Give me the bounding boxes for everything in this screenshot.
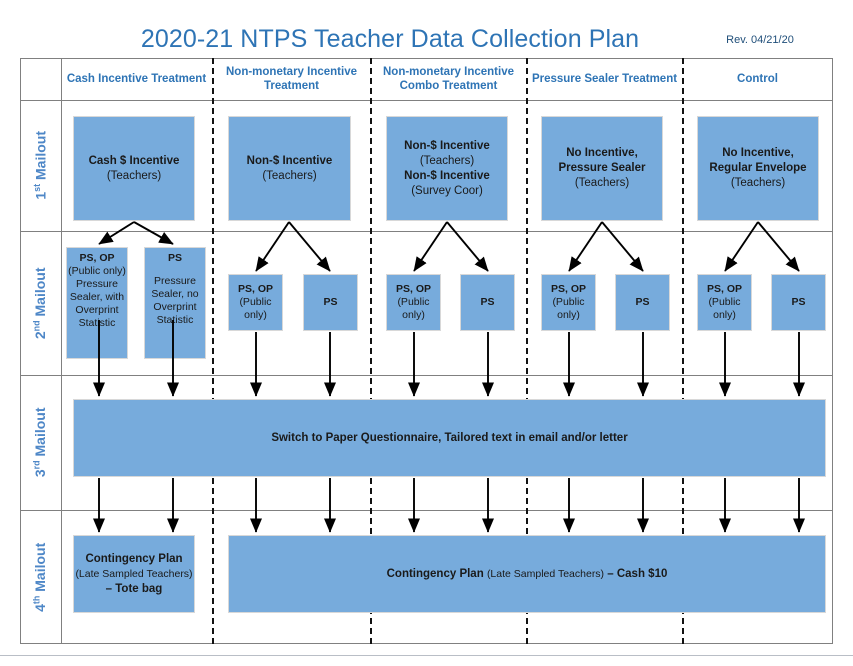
- mailout2-box-control-left[interactable]: PS, OP (Public only): [697, 274, 752, 331]
- row-label-mailout-1: 1st Mailout: [20, 100, 60, 231]
- mailout4-rest-title: Contingency Plan: [387, 568, 484, 580]
- row-label-mailout-3: 3rd Mailout: [20, 375, 60, 510]
- mailout1-pressure-sub: (Teachers): [575, 176, 629, 191]
- mailout2-box-cash-right[interactable]: PS Pressure Sealer, no Overprint Statist…: [144, 247, 206, 359]
- mailout2-nonmonetary-right-code: PS: [323, 296, 337, 309]
- row-label-3-number: 3: [32, 470, 48, 478]
- mailout2-nonmonetary-left-sub: (Public only): [229, 296, 282, 322]
- mailout3-band[interactable]: Switch to Paper Questionnaire, Tailored …: [73, 399, 826, 477]
- column-header-pressure-sealer: Pressure Sealer Treatment: [527, 59, 682, 99]
- row-label-1-number: 1: [32, 192, 48, 200]
- mailout1-combo-sub2: (Survey Coor): [411, 184, 483, 199]
- column-header-nonmonetary: Non-monetary Incentive Treatment: [213, 59, 370, 99]
- mailout1-box-nonmonetary[interactable]: Non-$ Incentive (Teachers): [228, 116, 351, 221]
- mailout1-cash-title: Cash $ Incentive: [89, 154, 180, 169]
- row-label-mailout-4: 4th Mailout: [20, 510, 60, 644]
- row-label-2-ordinal: nd: [32, 320, 42, 331]
- mailout2-cash-right-extra: Pressure Sealer, no Overprint Statistic: [145, 275, 205, 327]
- mailout2-box-pressure-left[interactable]: PS, OP (Public only): [541, 274, 596, 331]
- row-label-4-number: 4: [32, 604, 48, 612]
- row-label-1-ordinal: st: [32, 184, 42, 192]
- mailout2-combo-left-sub: (Public only): [387, 296, 440, 322]
- mailout1-box-control[interactable]: No Incentive, Regular Envelope (Teachers…: [697, 116, 819, 221]
- mailout2-combo-left-code: PS, OP: [396, 283, 431, 296]
- mailout1-control-title2: Regular Envelope: [709, 161, 806, 176]
- mailout4-rest-sub: (Late Sampled Teachers): [487, 568, 604, 580]
- mailout2-box-nonmonetary-left[interactable]: PS, OP (Public only): [228, 274, 283, 331]
- mailout2-pressure-left-sub: (Public only): [542, 296, 595, 322]
- mailout4-cash-item: – Tote bag: [106, 582, 163, 597]
- mailout1-control-title1: No Incentive,: [722, 146, 794, 161]
- mailout1-box-pressure-sealer[interactable]: No Incentive, Pressure Sealer (Teachers): [541, 116, 663, 221]
- diagram-canvas: 2020-21 NTPS Teacher Data Collection Pla…: [0, 0, 853, 665]
- row-label-mailout-2: 2nd Mailout: [20, 231, 60, 375]
- mailout2-cash-left-code: PS, OP: [79, 252, 114, 265]
- mailout1-box-cash[interactable]: Cash $ Incentive (Teachers): [73, 116, 195, 221]
- mailout2-box-combo-left[interactable]: PS, OP (Public only): [386, 274, 441, 331]
- mailout2-box-control-right[interactable]: PS: [771, 274, 826, 331]
- mailout4-rest-item: – Cash $10: [607, 568, 667, 580]
- mailout2-box-combo-right[interactable]: PS: [460, 274, 515, 331]
- mailout1-cash-sub: (Teachers): [107, 169, 161, 184]
- mailout2-box-cash-left[interactable]: PS, OP (Public only) Pressure Sealer, wi…: [66, 247, 128, 359]
- row-label-2-number: 2: [32, 331, 48, 339]
- mailout1-box-combo[interactable]: Non-$ Incentive (Teachers) Non-$ Incenti…: [386, 116, 508, 221]
- mailout1-combo-title2: Non-$ Incentive: [404, 169, 490, 184]
- mailout1-control-sub: (Teachers): [731, 176, 785, 191]
- mailout1-combo-title1: Non-$ Incentive: [404, 139, 490, 154]
- row-label-3-ordinal: rd: [32, 461, 42, 470]
- grid-hline-header: [21, 100, 832, 101]
- row-label-3-text: Mailout: [32, 408, 48, 457]
- mailout4-cash-sub: (Late Sampled Teachers): [75, 567, 192, 582]
- mailout4-band-rest[interactable]: Contingency Plan (Late Sampled Teachers)…: [228, 535, 826, 613]
- mailout2-box-nonmonetary-right[interactable]: PS: [303, 274, 358, 331]
- grid-vline-gutter: [61, 59, 62, 643]
- mailout2-control-right-code: PS: [791, 296, 805, 309]
- column-header-combo: Non-monetary Incentive Combo Treatment: [371, 59, 526, 99]
- row-label-4-ordinal: th: [32, 595, 42, 604]
- mailout2-control-left-code: PS, OP: [707, 283, 742, 296]
- mailout3-text: Switch to Paper Questionnaire, Tailored …: [271, 431, 627, 446]
- mailout4-box-cash[interactable]: Contingency Plan (Late Sampled Teachers)…: [73, 535, 195, 613]
- mailout2-control-left-sub: (Public only): [698, 296, 751, 322]
- mailout1-pressure-title1: No Incentive,: [566, 146, 638, 161]
- mailout1-combo-sub1: (Teachers): [420, 154, 474, 169]
- column-separator-1: [212, 58, 214, 644]
- row-label-4-text: Mailout: [32, 542, 48, 591]
- column-header-cash: Cash Incentive Treatment: [61, 59, 212, 99]
- mailout1-nonmonetary-title: Non-$ Incentive: [247, 154, 333, 169]
- mailout2-cash-left-sub: (Public only): [68, 265, 126, 278]
- column-header-control: Control: [683, 59, 832, 99]
- mailout2-nonmonetary-left-code: PS, OP: [238, 283, 273, 296]
- row-label-1-text: Mailout: [32, 131, 48, 180]
- mailout2-pressure-right-code: PS: [635, 296, 649, 309]
- mailout4-cash-title: Contingency Plan: [85, 552, 182, 567]
- revision-label: Rev. 04/21/20: [690, 33, 830, 47]
- mailout1-pressure-title2: Pressure Sealer: [559, 161, 646, 176]
- mailout2-pressure-left-code: PS, OP: [551, 283, 586, 296]
- grid-hline-m2-m3: [21, 375, 832, 376]
- mailout2-cash-left-extra: Pressure Sealer, with Overprint Statisti…: [67, 278, 127, 330]
- mailout4-rest-line: Contingency Plan (Late Sampled Teachers)…: [387, 567, 668, 582]
- grid-hline-m3-m4: [21, 510, 832, 511]
- grid-hline-m1-m2: [21, 231, 832, 232]
- mailout2-cash-right-code: PS: [168, 252, 182, 265]
- mailout2-combo-right-code: PS: [480, 296, 494, 309]
- mailout1-nonmonetary-sub: (Teachers): [262, 169, 316, 184]
- mailout2-box-pressure-right[interactable]: PS: [615, 274, 670, 331]
- window-bottom-strip: [0, 655, 853, 666]
- page-title: 2020-21 NTPS Teacher Data Collection Pla…: [120, 22, 660, 56]
- row-label-2-text: Mailout: [32, 267, 48, 316]
